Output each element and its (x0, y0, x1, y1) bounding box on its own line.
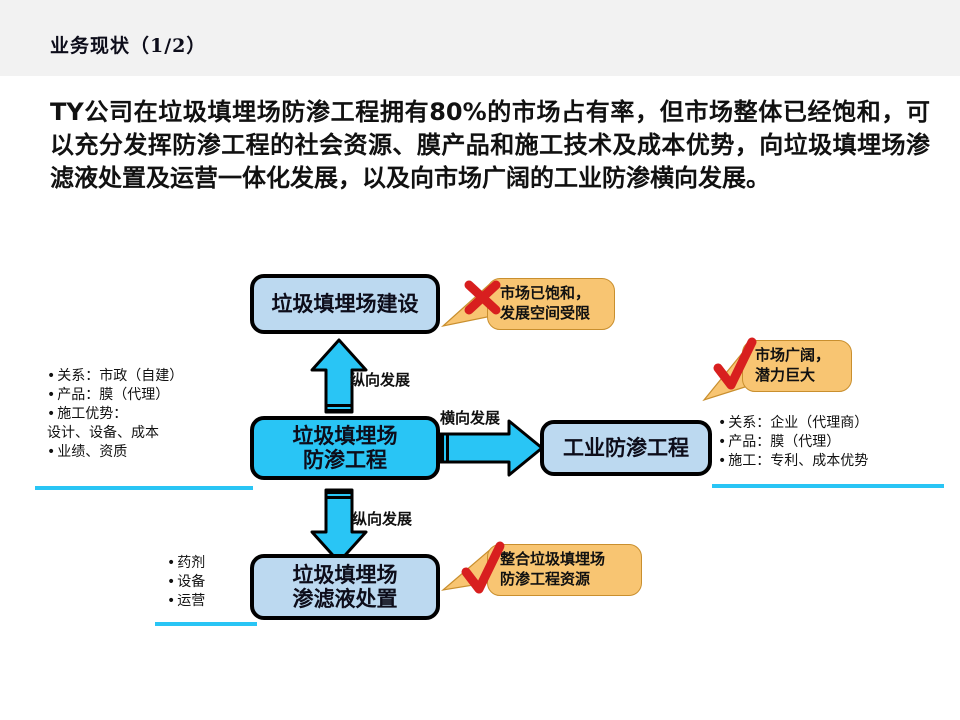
node-center-line2: 防渗工程 (303, 448, 387, 472)
bullet-item: 业绩、资质 (47, 443, 183, 462)
node-landfill-antiseepage[interactable]: 垃圾填埋场 防渗工程 (250, 416, 440, 480)
bullet-item: 产品：膜（代理） (718, 433, 868, 452)
callout-integrate-resources: 整合垃圾填埋场 防渗工程资源 (487, 544, 642, 596)
node-bottom-line1: 垃圾填埋场 (293, 563, 398, 587)
body-paragraph: TY公司在垃圾填埋场防渗工程拥有80%的市场占有率，但市场整体已经饱和，可以充分… (50, 96, 930, 195)
bullet-item: 产品：膜（代理） (47, 386, 183, 405)
bullet-item: 施工：专利、成本优势 (718, 452, 868, 471)
node-bottom-line2: 渗滤液处置 (293, 587, 398, 611)
check-mark-icon-bottom (460, 542, 508, 598)
callout-right-line2: 潜力巨大 (755, 366, 815, 386)
arrow-label-right: 横向发展 (440, 407, 500, 428)
callout-bottom-line2: 防渗工程资源 (500, 570, 590, 590)
callout-right-line1: 市场广阔， (755, 346, 830, 366)
callout-market-saturated: 市场已饱和， 发展空间受限 (487, 278, 615, 330)
underline-right (712, 484, 944, 488)
page-title: 业务现状（1/2） (50, 31, 206, 58)
bullet-item: 运营 (167, 592, 205, 611)
arrow-label-up: 纵向发展 (350, 369, 410, 390)
node-landfill-construction[interactable]: 垃圾填埋场建设 (250, 274, 440, 334)
bullet-item: 关系：企业（代理商） (718, 414, 868, 433)
callout-bottom-line1: 整合垃圾填埋场 (500, 550, 605, 570)
callout-top-line2: 发展空间受限 (500, 304, 590, 324)
node-top-line1: 垃圾填埋场建设 (272, 292, 419, 316)
bullet-item: 施工优势： (47, 405, 183, 424)
cross-mark-icon (462, 278, 504, 318)
bullet-list-bottom: 药剂设备运营 (167, 554, 205, 611)
arrow-label-down: 纵向发展 (352, 508, 412, 529)
bullet-list-left: 关系：市政（自建）产品：膜（代理）施工优势：设计、设备、成本业绩、资质 (47, 367, 183, 462)
underline-bottom (155, 622, 257, 626)
bullet-item: 关系：市政（自建） (47, 367, 183, 386)
check-mark-icon-right (712, 338, 760, 394)
callout-top-line1: 市场已饱和， (500, 284, 590, 304)
bullet-item: 设计、设备、成本 (47, 424, 183, 443)
underline-left (35, 486, 253, 490)
node-industrial-antiseepage[interactable]: 工业防渗工程 (540, 420, 712, 476)
bullet-item: 设备 (167, 573, 205, 592)
node-leachate-treatment[interactable]: 垃圾填埋场 渗滤液处置 (250, 554, 440, 620)
slide-canvas: 业务现状（1/2） TY公司在垃圾填埋场防渗工程拥有80%的市场占有率，但市场整… (0, 0, 960, 720)
node-right-line1: 工业防渗工程 (563, 436, 689, 460)
node-center-line1: 垃圾填埋场 (293, 424, 398, 448)
bullet-list-right: 关系：企业（代理商）产品：膜（代理）施工：专利、成本优势 (718, 414, 868, 471)
diagram-area: 纵向发展 纵向发展 横向发展 市场已饱和， 发展空间受限 市场广阔， 潜力巨大 … (0, 250, 960, 670)
bullet-item: 药剂 (167, 554, 205, 573)
